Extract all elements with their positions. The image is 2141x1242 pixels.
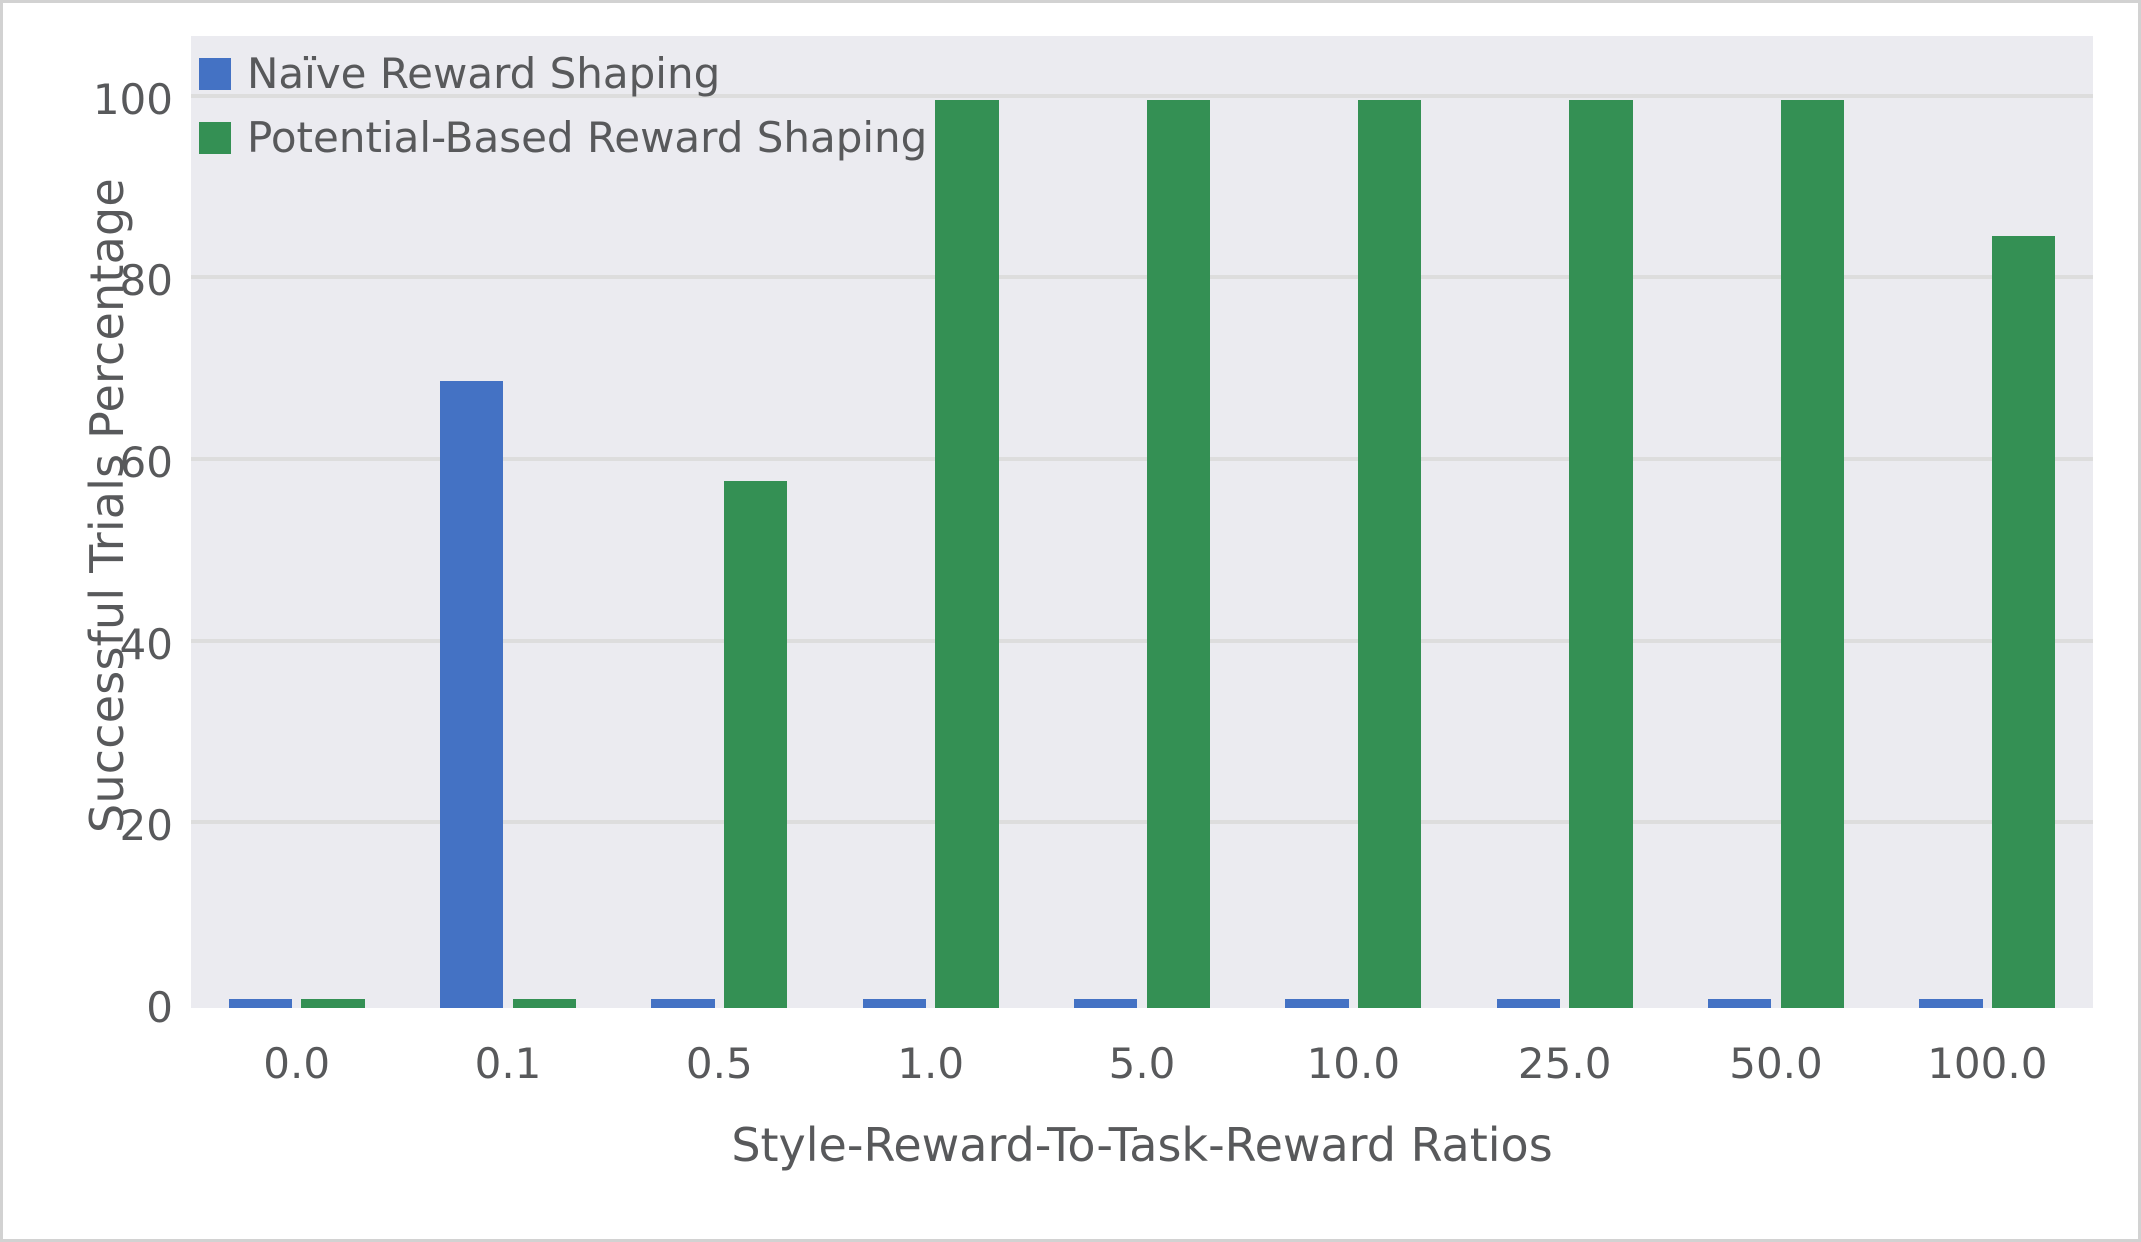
bar[interactable] — [1708, 999, 1771, 1008]
bar-group — [1248, 36, 1459, 1008]
legend-swatch-icon — [199, 58, 231, 90]
bar-group — [825, 36, 1036, 1008]
legend-item[interactable]: Potential-Based Reward Shaping — [199, 117, 927, 159]
bar[interactable] — [513, 999, 576, 1008]
bar[interactable] — [440, 381, 503, 1008]
legend-item[interactable]: Naïve Reward Shaping — [199, 53, 927, 95]
legend-label: Potential-Based Reward Shaping — [247, 117, 927, 159]
bar[interactable] — [301, 999, 364, 1008]
bar[interactable] — [229, 999, 292, 1008]
bar-group — [1036, 36, 1247, 1008]
bar[interactable] — [1919, 999, 1982, 1008]
bar[interactable] — [863, 999, 926, 1008]
x-axis-tick-label: 1.0 — [897, 1043, 964, 1085]
bar[interactable] — [651, 999, 714, 1008]
bar-group — [191, 36, 402, 1008]
legend-swatch-icon — [199, 122, 231, 154]
plot-area — [191, 36, 2093, 1008]
legend-label: Naïve Reward Shaping — [247, 53, 720, 95]
x-axis-tick-label: 25.0 — [1518, 1043, 1612, 1085]
bar[interactable] — [1992, 236, 2055, 1008]
bar[interactable] — [1569, 100, 1632, 1008]
bar-group — [1882, 36, 2093, 1008]
y-axis-tick-label: 0 — [146, 987, 173, 1029]
x-axis-tick-labels: 0.00.10.51.05.010.025.050.0100.0 — [191, 1043, 2093, 1103]
x-axis-tick-label: 50.0 — [1729, 1043, 1823, 1085]
bar-group — [614, 36, 825, 1008]
bar[interactable] — [1781, 100, 1844, 1008]
x-axis-tick-label: 0.0 — [263, 1043, 330, 1085]
x-axis-tick-label: 100.0 — [1927, 1043, 2047, 1085]
bars-layer — [191, 36, 2093, 1008]
y-axis-tick-label: 40 — [120, 624, 173, 666]
bar[interactable] — [1285, 999, 1348, 1008]
bar[interactable] — [1497, 999, 1560, 1008]
y-axis-tick-label: 60 — [120, 442, 173, 484]
x-axis-tick-label: 0.1 — [475, 1043, 542, 1085]
x-axis-tick-label: 10.0 — [1307, 1043, 1401, 1085]
y-axis-tick-label: 100 — [93, 79, 173, 121]
y-axis-tick-labels: 020406080100 — [99, 36, 173, 1008]
legend: Naïve Reward ShapingPotential-Based Rewa… — [199, 53, 927, 159]
bar-group — [1459, 36, 1670, 1008]
bar[interactable] — [724, 481, 787, 1008]
x-axis-tick-label: 5.0 — [1109, 1043, 1176, 1085]
y-axis-tick-label: 20 — [120, 805, 173, 847]
chart-figure: Successful Trials Percentage 02040608010… — [0, 0, 2141, 1242]
bar[interactable] — [1358, 100, 1421, 1008]
x-axis-tick-label: 0.5 — [686, 1043, 753, 1085]
bar[interactable] — [1147, 100, 1210, 1008]
bar-group — [402, 36, 613, 1008]
bar-group — [1670, 36, 1881, 1008]
x-axis-title: Style-Reward-To-Task-Reward Ratios — [191, 1118, 2093, 1172]
bar[interactable] — [1074, 999, 1137, 1008]
bar[interactable] — [935, 100, 998, 1008]
y-axis-tick-label: 80 — [120, 260, 173, 302]
